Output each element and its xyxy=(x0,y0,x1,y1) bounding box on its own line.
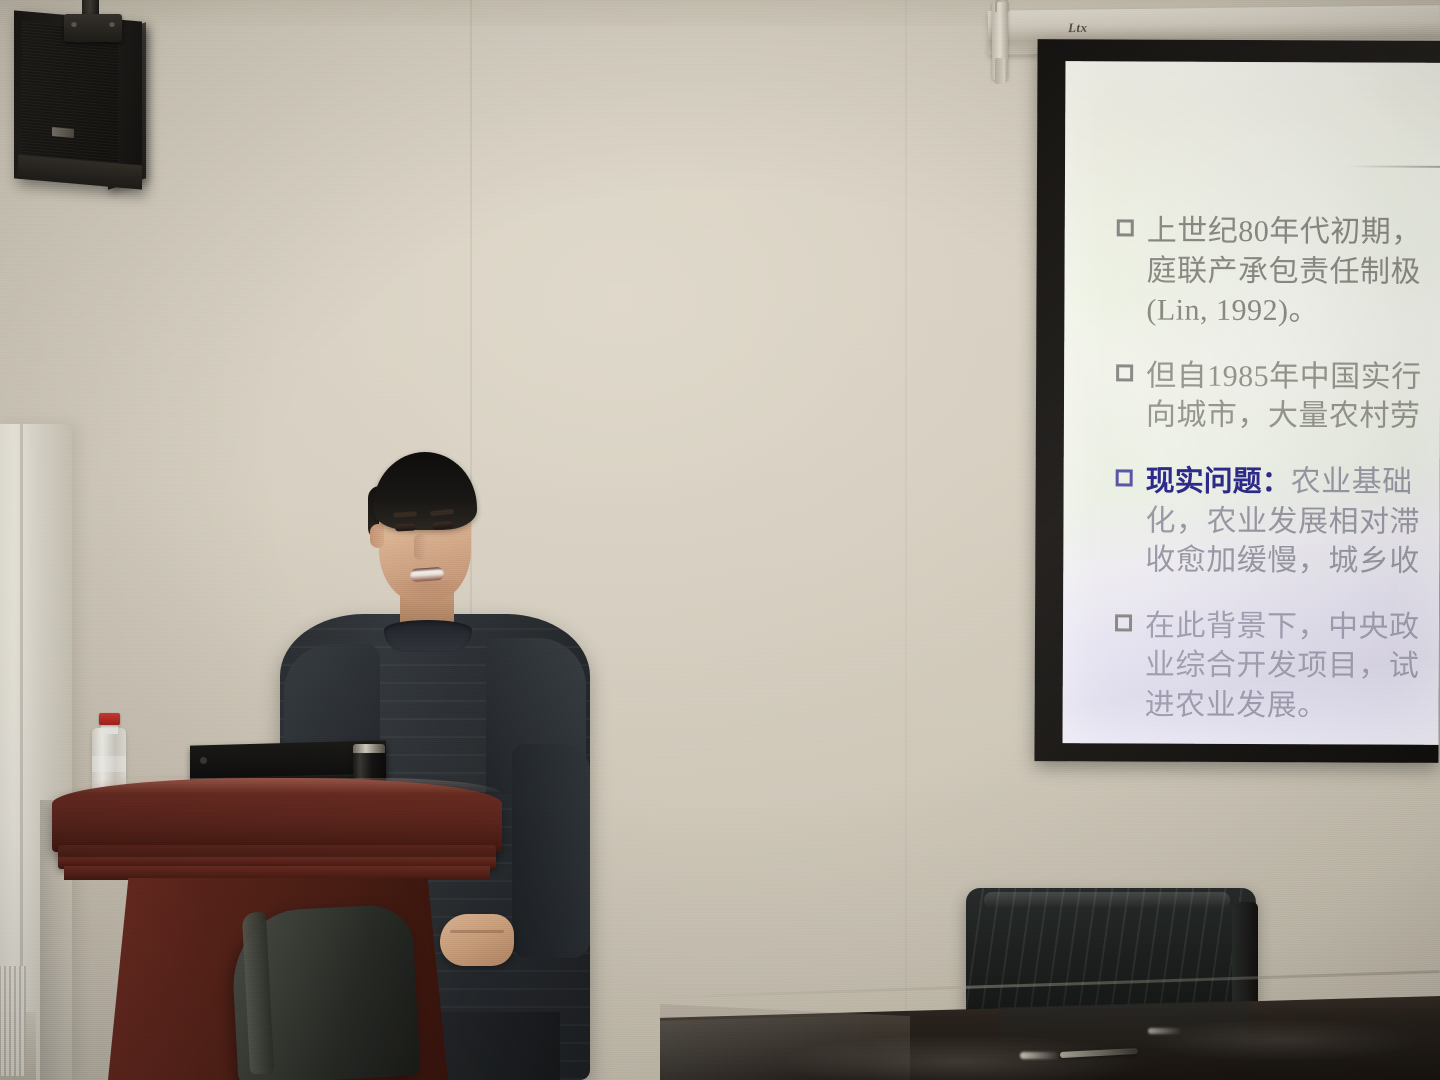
bullet-square-icon xyxy=(1117,219,1134,236)
lecture-room-photo: Ltx 上世纪80年代初期， 庭联产承包责任制极 (Lin, 1992)。 但自… xyxy=(0,0,1440,1080)
slide-title-rule xyxy=(1345,165,1440,167)
radiator-icon xyxy=(0,966,26,1076)
presenter-collar xyxy=(384,620,472,652)
presenter-hair xyxy=(373,452,477,530)
projected-slide: 上世纪80年代初期， 庭联产承包责任制极 (Lin, 1992)。 但自1985… xyxy=(1063,61,1440,745)
speaker-logo xyxy=(52,127,74,138)
roller-brand-label: Ltx xyxy=(1068,20,1088,36)
presenter-nose xyxy=(414,534,428,560)
presenter-eye-left xyxy=(395,523,416,531)
slide-bullet-2: 但自1985年中国实行 向城市，大量农村劳 xyxy=(1116,356,1440,437)
slide-bullet-4-text: 在此背景下，中央政 业综合开发项目，试 进农业发展。 xyxy=(1145,606,1420,726)
table-glint xyxy=(1020,1052,1060,1059)
slide-bullet-list: 上世纪80年代初期， 庭联产承包责任制极 (Lin, 1992)。 但自1985… xyxy=(1114,211,1440,744)
screen-clip-icon xyxy=(995,58,1005,84)
presenter-arm-right xyxy=(512,744,590,958)
bottle-cap[interactable] xyxy=(99,713,120,725)
bottle-label xyxy=(92,756,126,772)
slide-bullet-1: 上世纪80年代初期， 庭联产承包责任制极 (Lin, 1992)。 xyxy=(1116,211,1440,332)
thermos-cap[interactable] xyxy=(353,744,385,753)
slide-bullet-1-text: 上世纪80年代初期， 庭联产承包责任制极 (Lin, 1992)。 xyxy=(1146,212,1422,332)
slide-bullet-3-text: 现实问题：农业基础 化，农业发展相对滞 收愈加缓慢，城乡收 xyxy=(1145,462,1420,582)
laptop-webcam-icon xyxy=(200,757,207,764)
presenter-ear xyxy=(370,524,384,548)
presenter-chin-shadow xyxy=(386,580,464,604)
chair-right-highlight xyxy=(984,892,1230,908)
slide-bullet-4: 在此背景下，中央政 业综合开发项目，试 进农业发展。 xyxy=(1115,606,1440,727)
slide-bullet-3: 现实问题：农业基础 化，农业发展相对滞 收愈加缓慢，城乡收 xyxy=(1115,461,1440,582)
slide-bullet-3-keyword: 现实问题： xyxy=(1146,464,1291,499)
table-glint xyxy=(1148,1028,1182,1034)
podium-desktop xyxy=(52,778,502,852)
bullet-square-icon xyxy=(1116,364,1133,381)
podium-lip-secondary xyxy=(64,866,490,880)
bullet-square-icon xyxy=(1116,469,1133,486)
bullet-square-icon xyxy=(1115,614,1132,631)
presenter-hands xyxy=(440,914,514,966)
speaker-grille-icon xyxy=(22,22,118,172)
wall-seam xyxy=(905,0,907,1080)
slide-bullet-2-text: 但自1985年中国实行 向城市，大量农村劳 xyxy=(1146,356,1422,436)
speaker-mount-plate xyxy=(64,14,122,42)
